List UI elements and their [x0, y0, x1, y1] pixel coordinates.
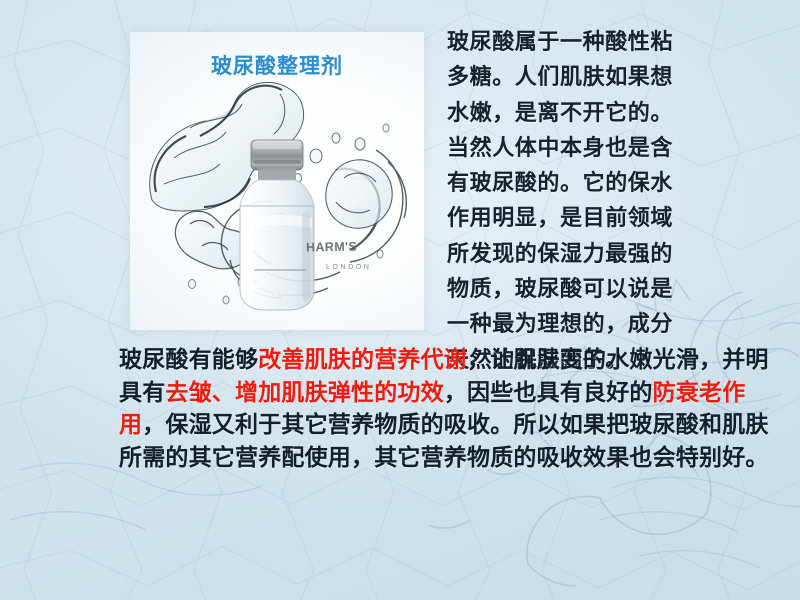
bottle-origin-label: LONDON — [326, 264, 372, 271]
highlighted-phrase: 去皱、增加肌肤弹性的功效 — [165, 380, 443, 405]
highlighted-phrase: 改善肌肤的营养代谢 — [258, 347, 467, 372]
product-photo: 玻尿酸整理剂 HARM'S LONDON — [130, 32, 424, 330]
product-image-panel: 玻尿酸整理剂 HARM'S LONDON — [130, 32, 424, 330]
slide-canvas: 玻尿酸整理剂 HARM'S LONDON 玻尿酸属于一种酸性粘 多糖。人们肌肤如… — [0, 0, 800, 600]
paragraph-text: 玻尿酸有能够 — [119, 347, 258, 372]
right-column-description: 玻尿酸属于一种酸性粘 多糖。人们肌肤如果想 水嫩，是离不开它的。 当然人体中本身… — [447, 24, 787, 377]
bottle-brand-label: HARM'S — [306, 240, 357, 255]
paragraph-text: ，保湿又利于其它营养物质的吸收。所以如果把玻尿酸和肌肤所需的其它营养配使用，其它… — [119, 412, 769, 470]
bottle-graphic — [240, 140, 314, 310]
bottom-paragraph: 玻尿酸有能够改善肌肤的营养代谢，让肌肤变的水嫩光滑，并明具有去皱、增加肌肤弹性的… — [119, 344, 791, 474]
paragraph-text: ，因些也具有良好的 — [444, 380, 653, 405]
product-title: 玻尿酸整理剂 — [130, 50, 424, 80]
